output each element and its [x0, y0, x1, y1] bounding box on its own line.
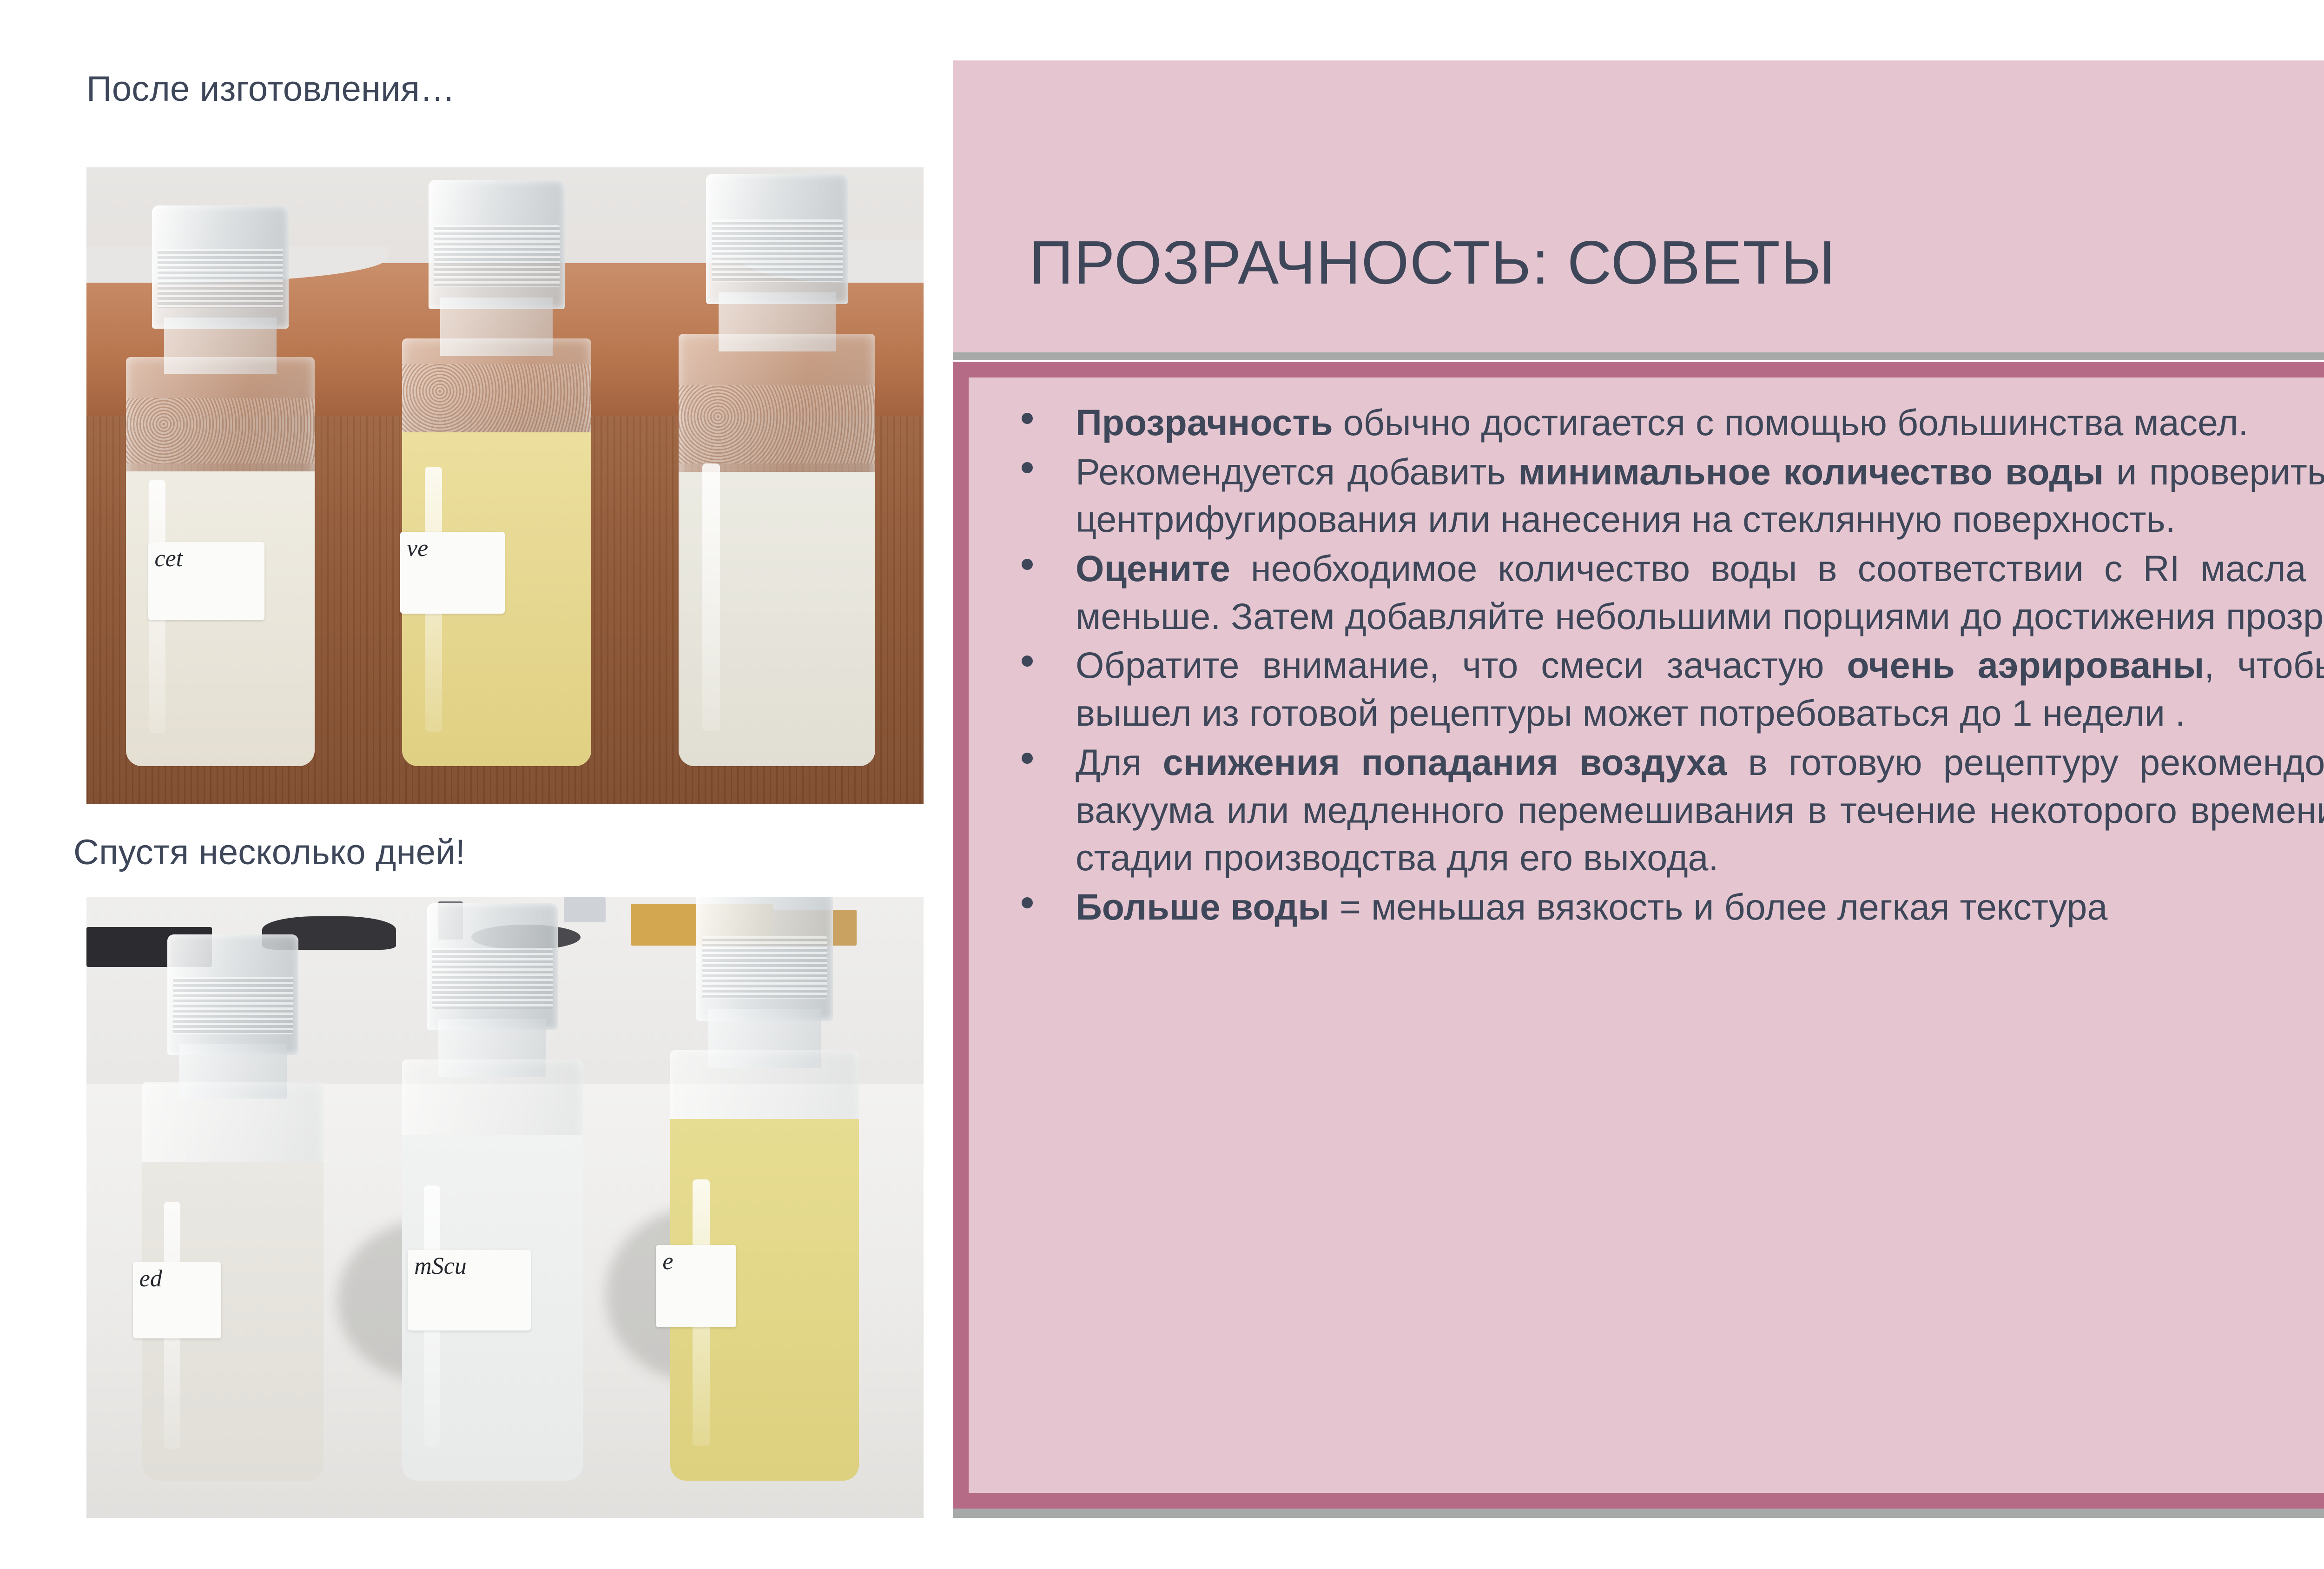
tips-panel: ПРОЗРАЧНОСТЬ: СОВЕТЫ Прозрачность обычно… [953, 60, 2324, 352]
tips-content-area: Прозрачность обычно достигается с помощь… [969, 377, 2324, 1493]
bottle-label-text: ve [400, 532, 505, 562]
bullet-icon [1022, 462, 1033, 473]
tip-text: Оцените необходимое количество воды в со… [1076, 548, 2324, 637]
photo-fresh-scene: cet ve [86, 167, 924, 804]
bullet-icon [1022, 753, 1033, 764]
bullet-icon [1022, 559, 1033, 570]
bottle-label: ve [400, 532, 505, 614]
photo-fresh-formulations: cet ve [86, 167, 924, 804]
bottle-cap-icon [167, 934, 298, 1054]
caption-after-production: После изготовления… [86, 69, 455, 109]
bottle-label: ed [133, 1262, 222, 1338]
bottle-body [679, 334, 875, 766]
bottle-highlight [702, 463, 720, 732]
tip-text: Больше воды = меньшая вязкость и более л… [1076, 886, 2107, 927]
bottle-fresh-3 [673, 174, 882, 766]
tip-text: Рекомендуется добавить минимальное колич… [1076, 451, 2324, 540]
bottle-fresh-2: ve [396, 180, 597, 766]
bottle-cap-icon [706, 174, 848, 304]
bottle-label-text: e [656, 1245, 736, 1275]
list-item: Рекомендуется добавить минимальное колич… [993, 448, 2324, 543]
bullet-icon [1022, 897, 1033, 908]
tip-text: Обратите внимание, что смеси зачастую оч… [1076, 644, 2324, 734]
tip-text: Для снижения попадания воздуха в готовую… [1076, 741, 2324, 878]
list-item: Прозрачность обычно достигается с помощь… [993, 399, 2324, 447]
bullet-icon [1022, 413, 1033, 424]
bottle-foam-layer [679, 385, 875, 463]
photo-aged-scene: ed тScи [86, 897, 924, 1518]
list-item: Для снижения попадания воздуха в готовую… [993, 739, 2324, 882]
list-item: Оцените необходимое количество воды в со… [993, 545, 2324, 640]
caption-after-several-days: Спустя несколько дней! [73, 832, 465, 873]
bottle-cap-icon [427, 903, 558, 1030]
bottle-label-text: тScи [408, 1250, 531, 1280]
bottle-label: тScи [408, 1250, 531, 1331]
title-block: ПРОЗРАЧНОСТЬ: СОВЕТЫ [953, 60, 2324, 352]
left-image-column: После изготовления… cet [0, 0, 934, 1569]
bottle-label: e [656, 1245, 736, 1328]
tips-content-frame: Прозрачность обычно достигается с помощь… [953, 362, 2324, 1509]
bottle-label-text: cet [148, 542, 265, 572]
tips-list: Прозрачность обычно достигается с помощь… [993, 399, 2324, 931]
bottle-label-text: ed [133, 1262, 222, 1292]
bottle-foam-layer [402, 364, 591, 432]
list-item: Больше воды = меньшая вязкость и более л… [993, 883, 2324, 931]
bottle-aged-1: ed [137, 934, 329, 1481]
bottle-label: cet [148, 542, 265, 621]
photo-aged-formulations: ed тScи [86, 897, 924, 1518]
bottle-cap-icon [152, 205, 289, 329]
tip-text: Прозрачность обычно достигается с помощь… [1076, 402, 2248, 443]
bottle-aged-2: тScи [396, 903, 588, 1481]
bottle-fresh-1: cet [120, 205, 321, 766]
bottle-cap-icon [696, 897, 833, 1021]
bottle-cap-icon [429, 180, 565, 309]
title-divider [953, 352, 2324, 360]
page-title: ПРОЗРАЧНОСТЬ: СОВЕТЫ [1029, 227, 1836, 298]
list-item: Обратите внимание, что смеси зачастую оч… [993, 642, 2324, 737]
bullet-icon [1022, 655, 1033, 667]
bottle-aged-3: e [664, 897, 865, 1481]
bottle-foam-layer [126, 398, 315, 463]
